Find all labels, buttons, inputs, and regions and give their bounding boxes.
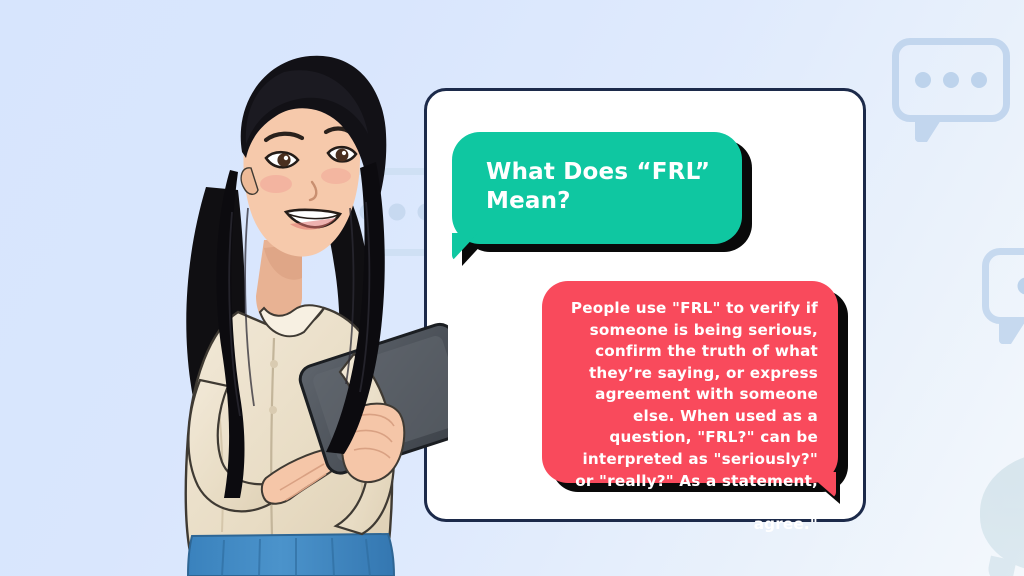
question-bubble: What Does “FRL” Mean? bbox=[452, 132, 742, 244]
dot bbox=[1018, 278, 1024, 295]
skirt bbox=[188, 534, 394, 576]
slide-canvas: What Does “FRL” Mean? People use "FRL" t… bbox=[0, 0, 1024, 576]
blouse-button bbox=[270, 360, 278, 368]
speech-bubble-filled-icon bbox=[980, 452, 1024, 572]
blush-right bbox=[321, 168, 351, 184]
eye-right bbox=[328, 147, 356, 161]
blouse-button bbox=[269, 406, 277, 414]
woman-holding-tablet-illustration bbox=[88, 12, 448, 576]
speech-bubble-dots-icon bbox=[892, 38, 1010, 122]
answer-bubble: People use "FRL" to verify if someone is… bbox=[542, 281, 838, 483]
dots-group bbox=[915, 72, 987, 88]
answer-bubble-tail bbox=[806, 472, 836, 498]
blush-left bbox=[260, 175, 292, 193]
speech-bubble-dot-icon bbox=[982, 248, 1024, 324]
dot bbox=[915, 72, 931, 88]
dot bbox=[943, 72, 959, 88]
dot bbox=[971, 72, 987, 88]
question-bubble-tail bbox=[452, 233, 478, 261]
dots-group bbox=[1018, 278, 1024, 295]
